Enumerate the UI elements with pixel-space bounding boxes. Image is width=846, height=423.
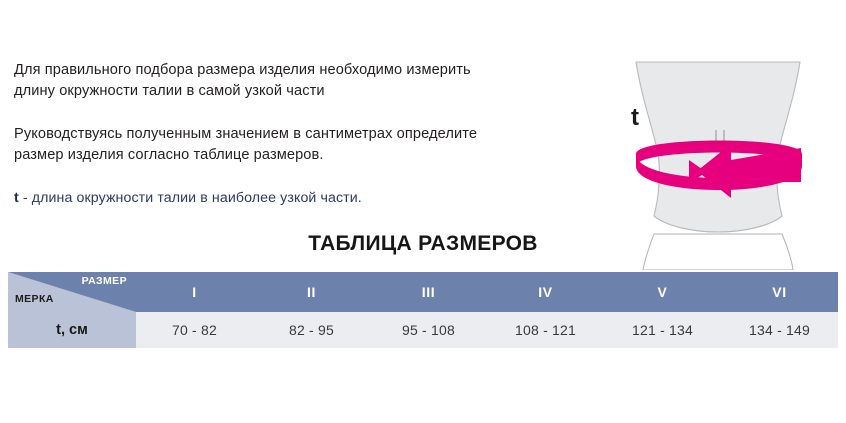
size-table-wrapper: РАЗМЕР МЕРКА I II III IV V VI t, см 70 -… bbox=[8, 272, 838, 348]
size-table-body: t, см 70 - 82 82 - 95 95 - 108 108 - 121… bbox=[8, 312, 838, 348]
column-header-v: V bbox=[604, 272, 721, 312]
column-header-iii: III bbox=[370, 272, 487, 312]
cell-waist-ii: 82 - 95 bbox=[253, 312, 370, 348]
instruction-paragraph-1: Для правильного подбора размера изделия … bbox=[14, 60, 514, 102]
corner-header-cell: РАЗМЕР МЕРКА bbox=[8, 272, 136, 312]
row-header-waist: t, см bbox=[8, 312, 136, 348]
cell-waist-v: 121 - 134 bbox=[604, 312, 721, 348]
corner-size-label: РАЗМЕР bbox=[82, 275, 127, 287]
instruction-paragraph-2: Руководствуясь полученным значением в са… bbox=[14, 124, 514, 166]
size-table-title: ТАБЛИЦА РАЗМЕРОВ bbox=[0, 232, 846, 256]
column-header-vi: VI bbox=[721, 272, 838, 312]
table-header-row: РАЗМЕР МЕРКА I II III IV V VI bbox=[8, 272, 838, 312]
cell-waist-i: 70 - 82 bbox=[136, 312, 253, 348]
cell-waist-iv: 108 - 121 bbox=[487, 312, 604, 348]
instructions-block: Для правильного подбора размера изделия … bbox=[14, 60, 514, 208]
column-header-i: I bbox=[136, 272, 253, 312]
cell-waist-vi: 134 - 149 bbox=[721, 312, 838, 348]
size-table: РАЗМЕР МЕРКА I II III IV V VI t, см 70 -… bbox=[8, 272, 838, 348]
legend-description: - длина окружности талии в наиболее узко… bbox=[19, 190, 362, 206]
legend-line: t - длина окружности талии в наиболее уз… bbox=[14, 188, 514, 208]
cell-waist-iii: 95 - 108 bbox=[370, 312, 487, 348]
waist-t-label: t bbox=[631, 106, 639, 130]
corner-measure-label: МЕРКА bbox=[15, 293, 54, 305]
size-table-head: РАЗМЕР МЕРКА I II III IV V VI bbox=[8, 272, 838, 312]
column-header-ii: II bbox=[253, 272, 370, 312]
column-header-iv: IV bbox=[487, 272, 604, 312]
table-row: t, см 70 - 82 82 - 95 95 - 108 108 - 121… bbox=[8, 312, 838, 348]
